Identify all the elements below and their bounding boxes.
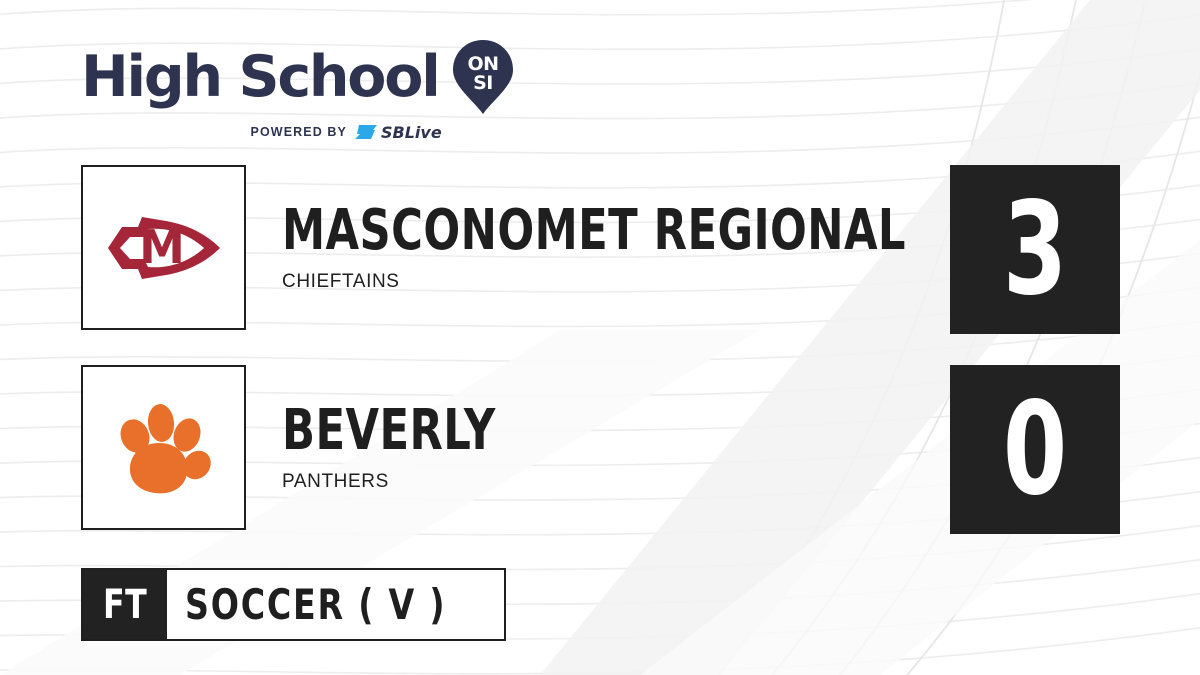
team-logo-box: M [81, 165, 246, 330]
team-text-block: BEVERLY PANTHERS [282, 403, 530, 493]
on-si-map-pin-icon: ON SI [449, 38, 517, 116]
team-row: M MASCONOMET REGIONAL CHIEFTAINS [81, 165, 1008, 330]
team-text-block: MASCONOMET REGIONAL CHIEFTAINS [282, 203, 1008, 293]
sport-label-block: SOCCER ( V ) [167, 570, 504, 639]
masconomet-arrowhead-logo: M [104, 203, 224, 293]
team-mascot: PANTHERS [282, 471, 530, 493]
game-status-bar: FT SOCCER ( V ) [81, 568, 506, 641]
team-mascot: CHIEFTAINS [282, 271, 1008, 293]
brand-row: High School ON SI [81, 38, 517, 116]
sport-label: SOCCER ( V ) [185, 580, 446, 629]
team-name: MASCONOMET REGIONAL [282, 203, 906, 259]
team-score-box: 3 [950, 165, 1120, 334]
team-score: 0 [1003, 386, 1067, 514]
sblive-logo: SBLive [355, 121, 465, 143]
team-score-box: 0 [950, 365, 1120, 534]
brand-lockup: High School ON SI POWERED BY SBLive [81, 38, 517, 143]
scoreboard-graphic: High School ON SI POWERED BY SBLive M [0, 0, 1200, 675]
status-code-label: FT [103, 582, 147, 628]
powered-by-label: POWERED BY [251, 125, 347, 139]
badge-text-si: SI [473, 72, 493, 94]
sblive-wordmark: SBLive [381, 123, 442, 142]
team-score: 3 [1003, 186, 1067, 314]
team-row: BEVERLY PANTHERS [81, 365, 530, 530]
wordmark-high-school: High School [81, 51, 439, 103]
logo-letter-m: M [139, 220, 185, 274]
team-logo-box [81, 365, 246, 530]
team-name: BEVERLY [282, 403, 496, 459]
beverly-paw-print-logo [109, 393, 219, 503]
powered-by-row: POWERED BY SBLive [199, 121, 517, 143]
status-code-block: FT [83, 570, 167, 639]
